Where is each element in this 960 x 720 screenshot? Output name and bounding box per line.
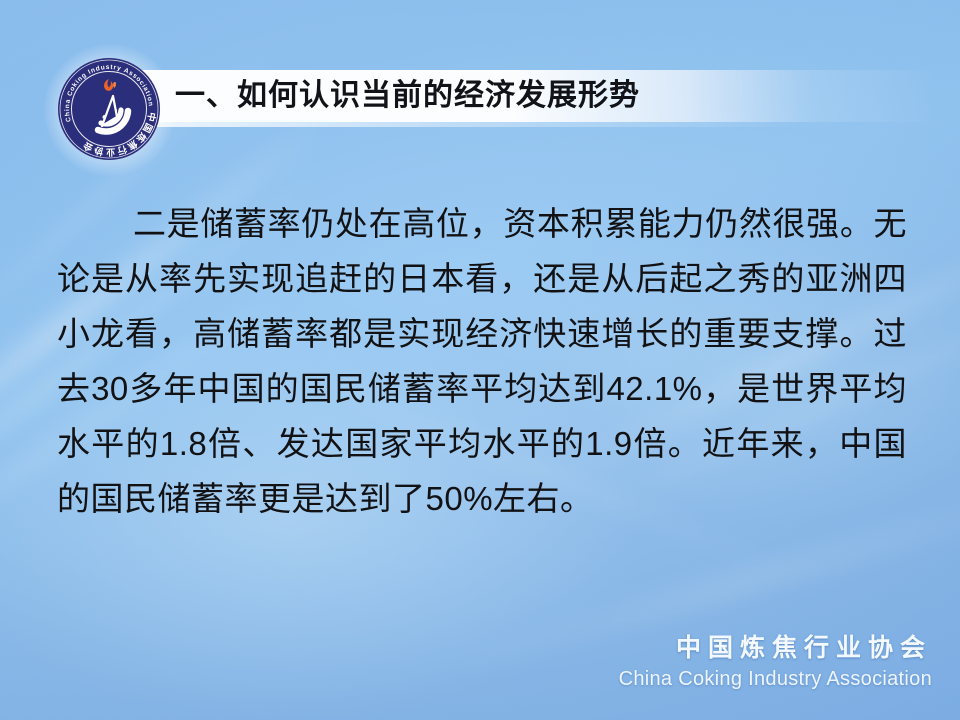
- footer-org-name-en: China Coking Industry Association: [619, 666, 932, 692]
- page-title: 一、如何认识当前的经济发展形势: [175, 76, 640, 116]
- footer-org-name-cn: 中国炼焦行业协会: [619, 632, 932, 664]
- header-underline: [137, 122, 960, 127]
- presentation-slide: 一、如何认识当前的经济发展形势 中国炼焦行业协会 China Coking In…: [0, 0, 960, 720]
- association-logo-icon: 中国炼焦行业协会 China Coking Industry Associati…: [57, 57, 161, 161]
- slide-body: 二是储蓄率仍处在高位，资本积累能力仍然很强。无论是从率先实现追赶的日本看，还是从…: [57, 196, 907, 526]
- footer-branding: 中国炼焦行业协会 China Coking Industry Associati…: [619, 632, 932, 692]
- body-paragraph: 二是储蓄率仍处在高位，资本积累能力仍然很强。无论是从率先实现追赶的日本看，还是从…: [57, 196, 907, 526]
